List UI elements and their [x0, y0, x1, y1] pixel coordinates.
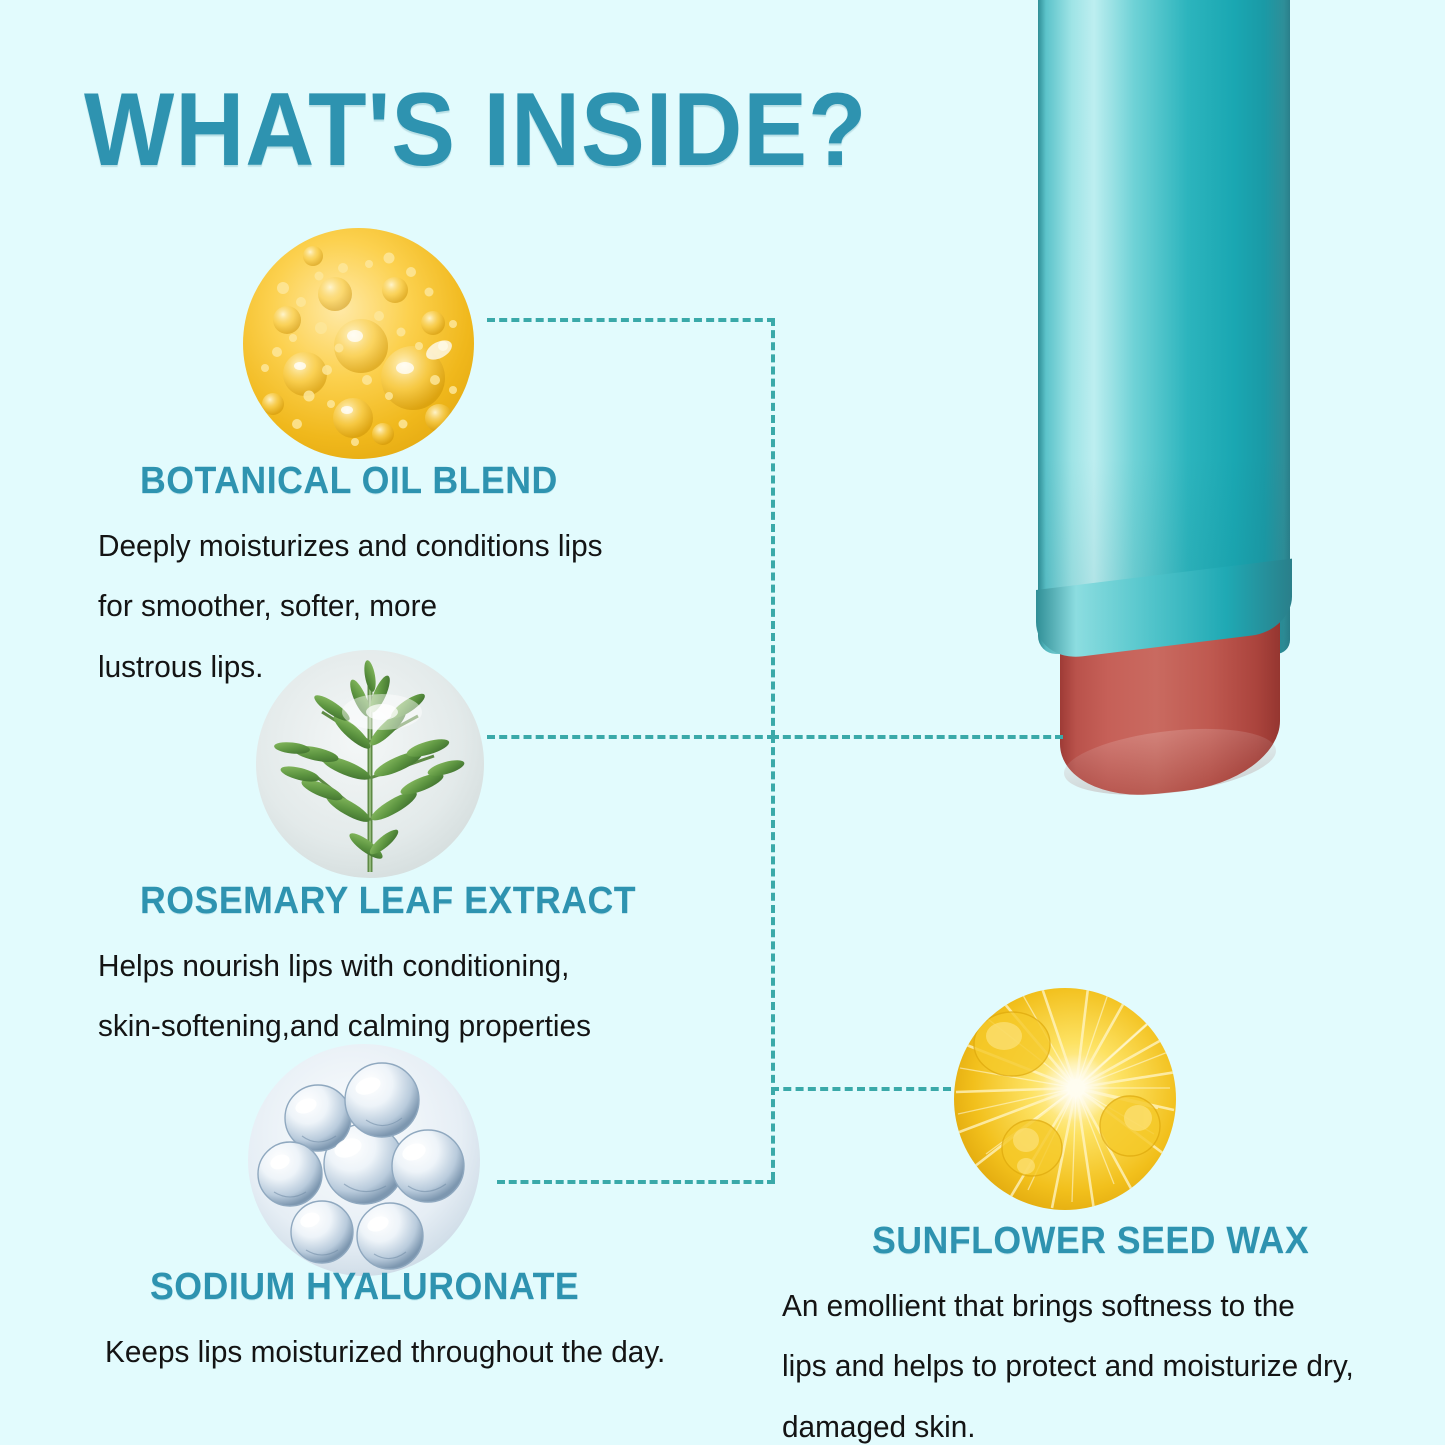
golden-oil-bubbles-circle [243, 228, 474, 459]
infographic-canvas: WHAT'S INSIDE? [0, 0, 1445, 1445]
connector-hyaluronate-horizontal [497, 1180, 775, 1184]
ingredient-title-sunflower-seed-wax: SUNFLOWER SEED WAX [872, 1222, 1408, 1262]
ingredient-title-rosemary-leaf-extract: ROSEMARY LEAF EXTRACT [140, 882, 742, 922]
water-bubbles-circle [248, 1044, 480, 1276]
lipstick-product-image [1038, 0, 1298, 834]
description-line: Helps nourish lips with conditioning, [98, 936, 753, 996]
connector-oil-horizontal [487, 318, 775, 322]
description-line: damaged skin. [782, 1397, 1416, 1445]
description-line: lustrous lips. [98, 637, 734, 697]
lipstick-tube-shading [1038, 0, 1290, 654]
ingredient-description-sunflower-seed-wax: An emollient that brings softness to the… [782, 1276, 1416, 1445]
connector-sunflower-horizontal [771, 1087, 951, 1091]
golden-sunburst-sphere-circle [954, 988, 1176, 1210]
description-line: An emollient that brings softness to the [782, 1276, 1416, 1336]
page-title: WHAT'S INSIDE? [84, 78, 867, 182]
ingredient-description-botanical-oil-blend: Deeply moisturizes and conditions lips f… [98, 516, 734, 697]
ingredient-title-sodium-hyaluronate: SODIUM HYALURONATE [150, 1268, 752, 1308]
ingredient-description-sodium-hyaluronate: Keeps lips moisturized throughout the da… [105, 1322, 763, 1382]
description-line: skin-softening,and calming properties [98, 996, 753, 1056]
description-line: Deeply moisturizes and conditions lips [98, 516, 734, 576]
ingredient-block-rosemary-leaf-extract: ROSEMARY LEAF EXTRACT Helps nourish lips… [140, 882, 780, 1057]
ingredient-description-rosemary-leaf-extract: Helps nourish lips with conditioning, sk… [98, 936, 753, 1057]
connector-vertical-upper [771, 318, 775, 738]
connector-rosemary-horizontal [487, 735, 775, 739]
description-line: Keeps lips moisturized throughout the da… [105, 1322, 763, 1382]
description-line: lips and helps to protect and moisturize… [782, 1336, 1416, 1396]
ingredient-block-sodium-hyaluronate: SODIUM HYALURONATE Keeps lips moisturize… [150, 1268, 790, 1382]
ingredient-block-sunflower-seed-wax: SUNFLOWER SEED WAX An emollient that bri… [872, 1222, 1442, 1445]
description-line: for smoother, softer, more [98, 576, 734, 636]
connector-to-lipstick [771, 735, 1063, 739]
ingredient-block-botanical-oil-blend: BOTANICAL OIL BLEND Deeply moisturizes a… [140, 462, 760, 697]
ingredient-title-botanical-oil-blend: BOTANICAL OIL BLEND [140, 462, 723, 502]
